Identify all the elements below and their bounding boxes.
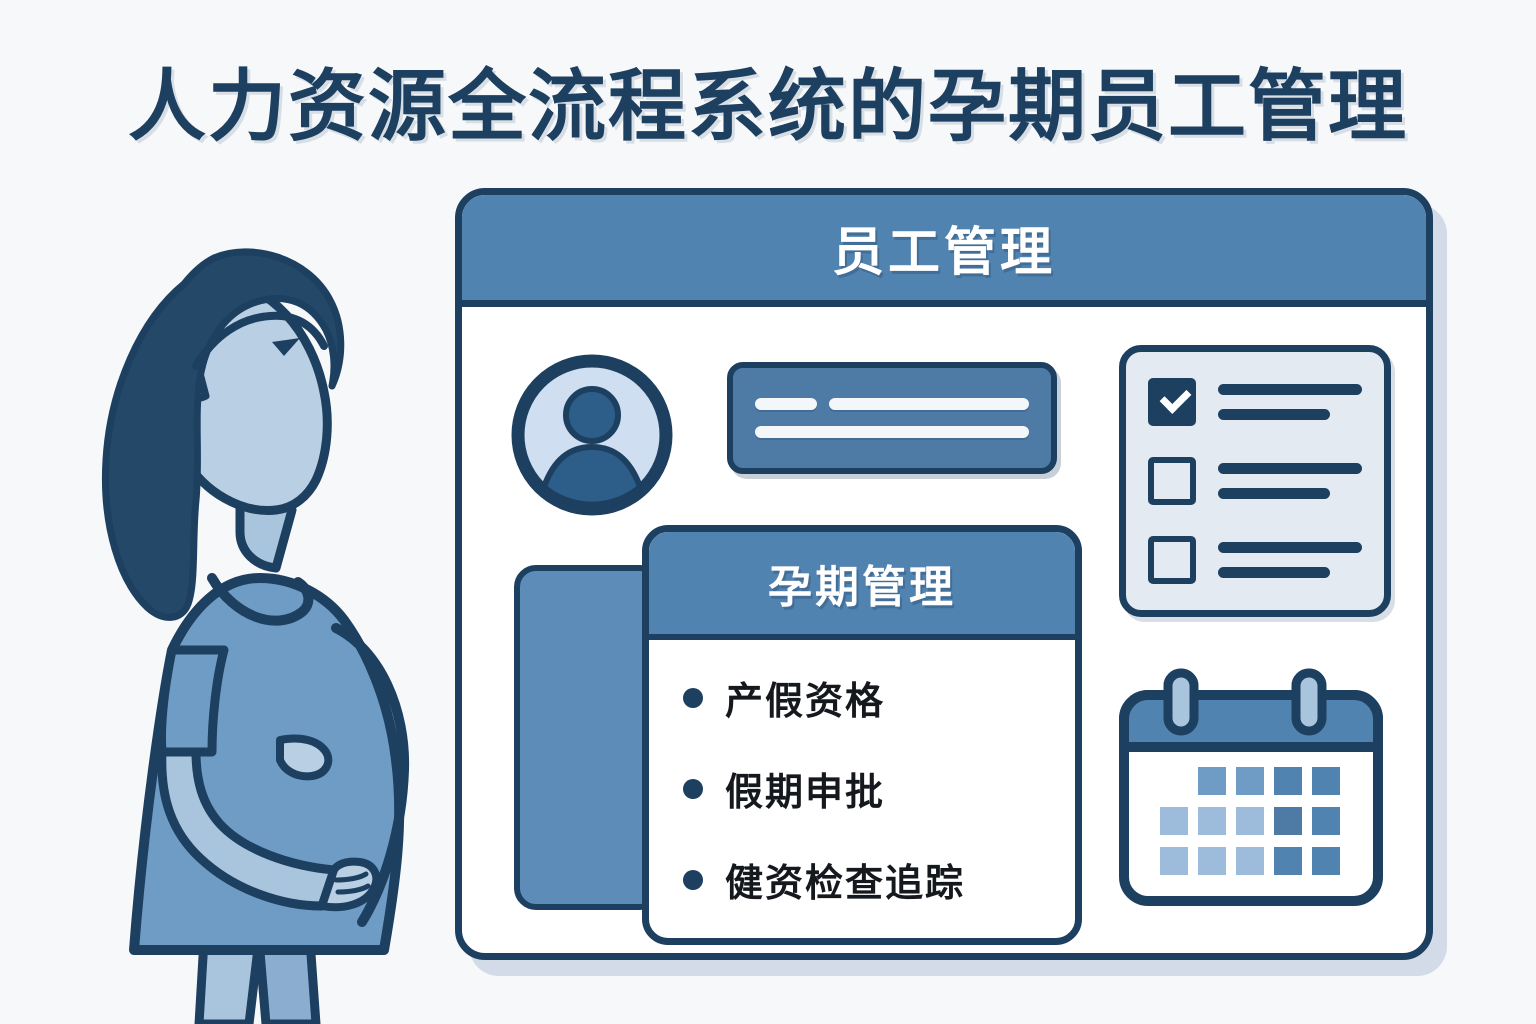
page-title: 人力资源全流程系统的孕期员工管理 (0, 44, 1536, 156)
list-item-label: 健资检查追踪 (725, 852, 965, 907)
checklist-line (1218, 567, 1330, 578)
bullet-dot-icon (683, 870, 703, 890)
checklist-row[interactable] (1148, 378, 1362, 426)
checklist-row-lines (1218, 542, 1362, 578)
pregnancy-feature-list: 产假资格 假期申批 健资检查追踪 (649, 640, 1075, 907)
checklist-line (1218, 542, 1362, 553)
info-bar-full (755, 426, 1029, 438)
list-item-label: 产假资格 (725, 670, 885, 725)
checklist-line (1218, 409, 1330, 420)
list-item[interactable]: 产假资格 (683, 670, 1075, 725)
info-field-row (755, 426, 1029, 438)
checklist-row-lines (1218, 463, 1362, 499)
side-panel-slab (514, 565, 662, 910)
checkbox-empty-icon[interactable] (1148, 536, 1196, 584)
info-field-row (755, 398, 1029, 410)
checkbox-empty-icon[interactable] (1148, 457, 1196, 505)
card-body: 孕期管理 产假资格 假期申批 健资检查追踪 (462, 307, 1426, 960)
info-bar-long (829, 398, 1029, 410)
list-item[interactable]: 假期申批 (683, 761, 1075, 816)
calendar-icon[interactable] (1112, 667, 1390, 915)
checklist-row[interactable] (1148, 457, 1362, 505)
checklist-line (1218, 488, 1330, 499)
poster-canvas: 人力资源全流程系统的孕期员工管理 (0, 0, 1536, 1024)
user-avatar-icon (510, 353, 674, 517)
pregnant-employee-illustration (44, 180, 444, 1024)
list-item-label: 假期申批 (725, 761, 885, 816)
card-header-title: 员工管理 (832, 210, 1056, 285)
list-item[interactable]: 健资检查追踪 (683, 852, 1075, 907)
pregnancy-panel-title: 孕期管理 (768, 551, 956, 615)
info-bar-short (755, 398, 817, 410)
pregnancy-management-panel: 孕期管理 产假资格 假期申批 健资检查追踪 (642, 525, 1082, 945)
checklist-line (1218, 463, 1362, 474)
checklist-row-lines (1218, 384, 1362, 420)
bullet-dot-icon (683, 688, 703, 708)
employee-info-field[interactable] (727, 362, 1057, 474)
task-checklist (1119, 345, 1391, 617)
bullet-dot-icon (683, 779, 703, 799)
checklist-line (1218, 384, 1362, 395)
checkbox-checked-icon[interactable] (1148, 378, 1196, 426)
pregnancy-panel-header: 孕期管理 (649, 532, 1075, 640)
employee-management-card: 员工管理 (455, 188, 1433, 960)
card-header: 员工管理 (462, 195, 1426, 307)
checklist-row[interactable] (1148, 536, 1362, 584)
